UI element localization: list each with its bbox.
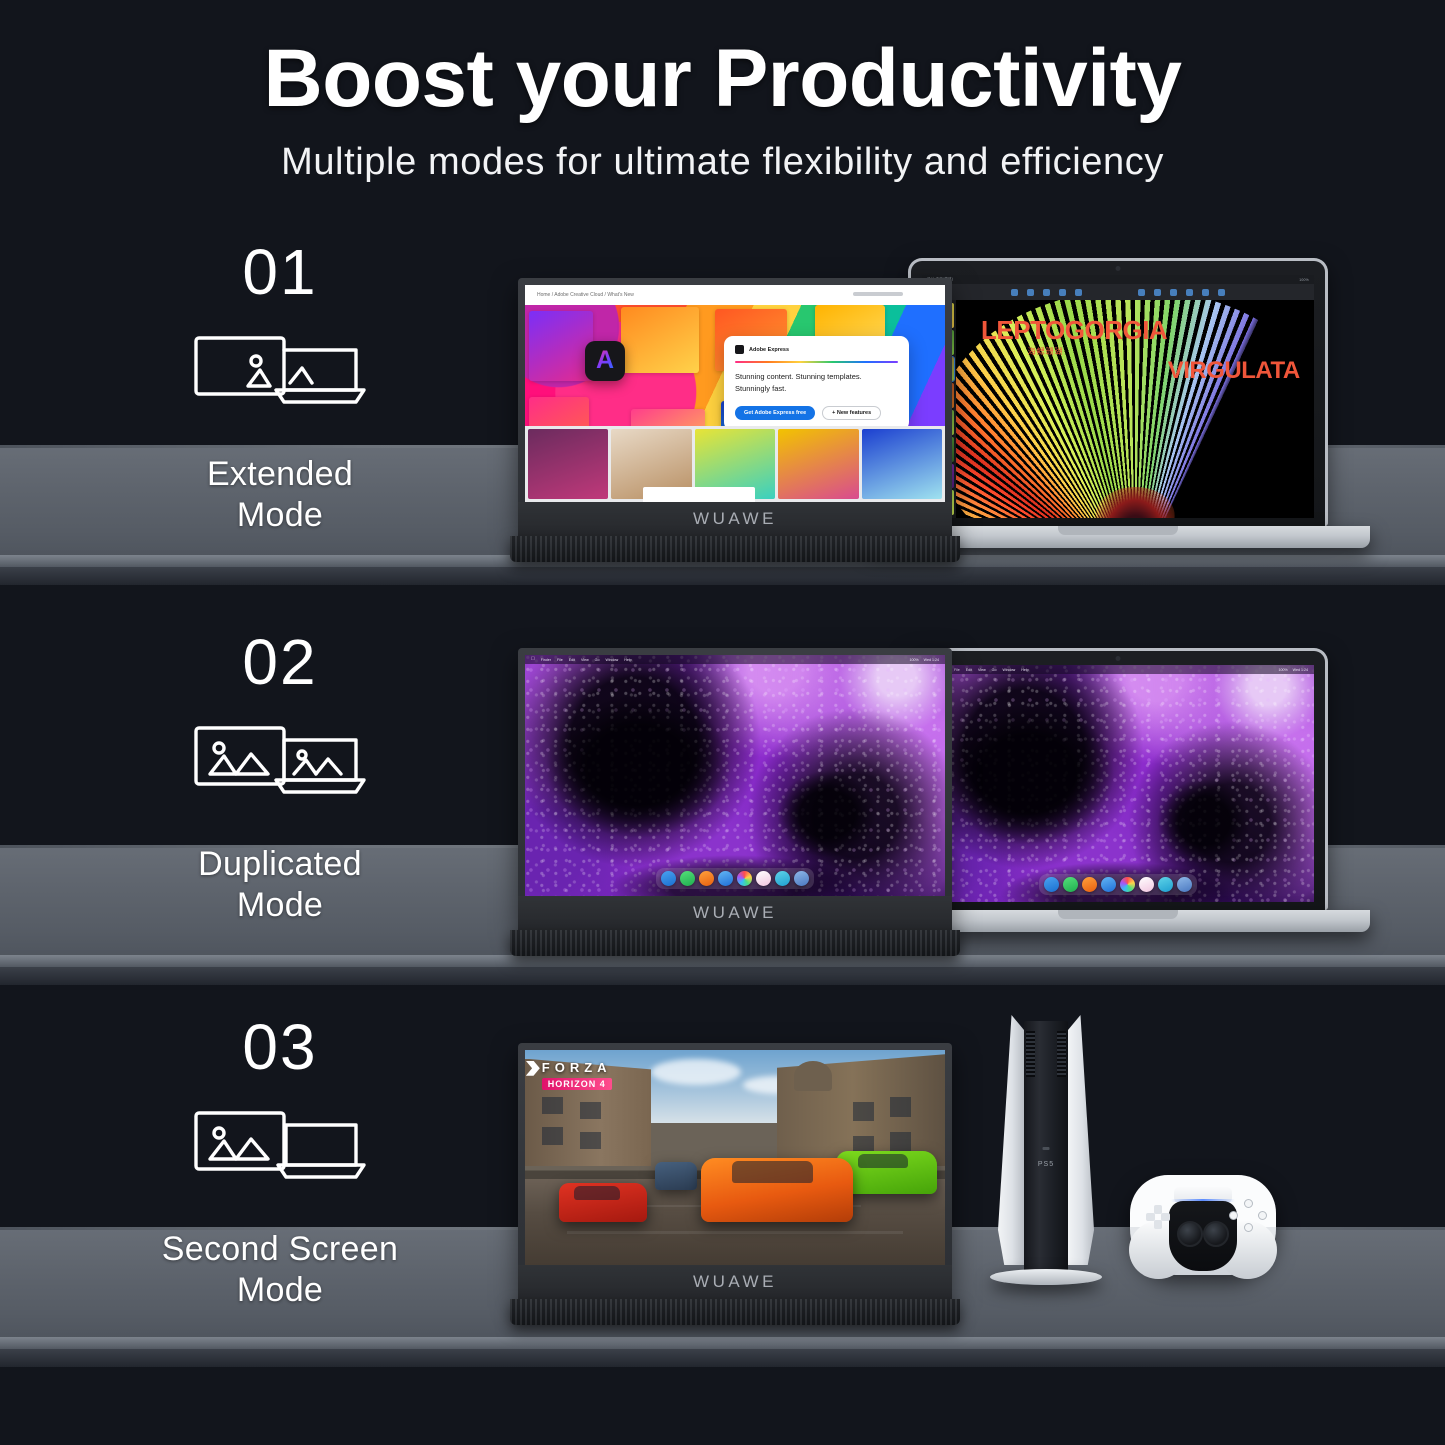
share-icon[interactable] (1138, 289, 1145, 296)
cloud-shape (651, 1059, 741, 1085)
get-adobe-express-free-button[interactable]: Get Adobe Express free (735, 406, 815, 420)
laptop-device-row1: 设计 中文(简体) 100% (908, 258, 1328, 526)
mode-row-extended: 01 Extended Mode 设计 中文( (0, 240, 1445, 600)
laptop-lid: 设计 中文(简体) 100% (908, 258, 1328, 526)
mail-icon[interactable] (699, 871, 714, 886)
text-icon[interactable] (1186, 289, 1193, 296)
window-shape (542, 1127, 563, 1144)
macos-menubar[interactable]:  Finder File Edit View Go Window Help 1… (525, 655, 945, 664)
adobe-express-logo-icon (735, 345, 744, 354)
ps5-fin-left (998, 1015, 1024, 1265)
settings-icon[interactable] (794, 871, 809, 886)
monitor-chin: WUAWE (518, 502, 952, 536)
mode-name-line1: Second Screen (60, 1229, 500, 1270)
shape-icon[interactable] (1202, 289, 1209, 296)
mail-icon[interactable] (1082, 877, 1097, 892)
strip-thumb[interactable] (778, 429, 858, 499)
battery-status[interactable]: 100% (1278, 668, 1287, 672)
portable-monitor-row3: FORZA HORIZON 4 WUAWE (518, 1043, 952, 1299)
ps5-vent-right-icon (1057, 1031, 1066, 1077)
play-icon[interactable] (1011, 289, 1018, 296)
macos-menubar[interactable]:  Finder File Edit View Go Window Help 1… (922, 665, 1314, 674)
facetime-icon[interactable] (680, 871, 695, 886)
page-subtitle: Multiple modes for ultimate flexibility … (0, 120, 1445, 184)
add-slide-icon[interactable] (1059, 289, 1066, 296)
menubar-status-area: 100% Wed 1:24 (909, 658, 939, 662)
monitor-body:  Finder File Edit View Go Window Help 1… (518, 648, 952, 930)
mode-row-second-screen: 03 Second Screen Mode PS5 (0, 1015, 1445, 1375)
mode-name: Second Screen Mode (60, 1229, 500, 1312)
coral-wallpaper-shadows (922, 665, 1314, 902)
clock[interactable]: Wed 1:24 (924, 658, 939, 662)
dualsense-controller (1130, 1175, 1276, 1275)
finder-icon[interactable] (661, 871, 676, 886)
account-pill[interactable] (853, 292, 903, 296)
game-subtitle-badge: HORIZON 4 (542, 1078, 612, 1090)
mode-label-02: 02 Duplicated Mode (60, 630, 500, 927)
promo-card-title: Adobe Express (749, 347, 789, 353)
mode-name: Duplicated Mode (60, 844, 500, 927)
mode-number: 03 (60, 1015, 500, 1079)
template-thumbnail-strip (525, 426, 945, 502)
monitor-laptop-extended-icon (190, 328, 370, 408)
macos-dock[interactable] (1039, 874, 1197, 895)
game-car-blue (655, 1162, 697, 1190)
rainbow-divider (735, 361, 898, 363)
ps5-stand (990, 1269, 1102, 1285)
new-features-button[interactable]: + New features (822, 406, 881, 420)
keynote-statusbar: 设计 中文(简体) 100% (922, 275, 1314, 284)
page-header: Boost your Productivity Multiple modes f… (0, 0, 1445, 210)
keynote-app: 设计 中文(简体) 100% (922, 275, 1314, 518)
building-dome (794, 1061, 832, 1091)
menubar-item-file[interactable]: File (557, 658, 563, 662)
controller-body (1130, 1175, 1276, 1275)
macos-desktop:  Finder File Edit View Go Window Help 1… (922, 665, 1314, 902)
game-car-red (559, 1183, 647, 1222)
mode-name-line1: Duplicated (60, 844, 500, 885)
portable-monitor-row1: Home / Adobe Creative Cloud / What's New (518, 278, 952, 536)
adobe-express-page: Home / Adobe Creative Cloud / What's New (525, 285, 945, 502)
window-shape (890, 1097, 911, 1116)
window-shape (853, 1102, 874, 1121)
macos-desktop-mirrored:  Finder File Edit View Go Window Help 1… (525, 655, 945, 896)
promo-card-body: Stunning content. Stunning templates. St… (735, 371, 898, 394)
ps5-vent-left-icon (1026, 1031, 1035, 1077)
safari-icon[interactable] (1101, 877, 1116, 892)
mode-name-line2: Mode (60, 1270, 500, 1311)
collage-tile (529, 397, 589, 426)
appstore-icon[interactable] (775, 871, 790, 886)
battery-status[interactable]: 100% (909, 658, 918, 662)
cross-button-icon[interactable] (1244, 1223, 1253, 1232)
portable-monitor-row2:  Finder File Edit View Go Window Help 1… (518, 648, 952, 930)
monitor-screen:  Finder File Edit View Go Window Help 1… (525, 655, 945, 896)
promo-body-line2: Stunningly fast. (735, 383, 898, 395)
car-windshield (732, 1161, 814, 1183)
menubar-item-window[interactable]: Window (1002, 668, 1015, 672)
app-icon-letter: A (596, 348, 614, 373)
monitor-stand (510, 930, 960, 956)
laptop-screen: 设计 中文(简体) 100% (922, 275, 1314, 518)
menubar-item-go[interactable]: Go (992, 668, 997, 672)
music-icon[interactable] (1139, 877, 1154, 892)
menubar-item-finder[interactable]: Finder (541, 658, 551, 662)
collage-tile (621, 307, 699, 373)
menubar-item-edit[interactable]: Edit (569, 658, 575, 662)
page-title: Boost your Productivity (0, 0, 1445, 120)
view-icon[interactable] (1027, 289, 1034, 296)
statusbar-right-text: 100% (1299, 278, 1309, 282)
finder-icon[interactable] (1044, 877, 1059, 892)
zoom-icon[interactable] (1043, 289, 1050, 296)
monitor-stand (510, 1299, 960, 1325)
menubar-item-help[interactable]: Help (624, 658, 631, 662)
ps5-console: PS5 (998, 1015, 1094, 1277)
mode-name-line1: Extended (60, 454, 500, 495)
slide-title-line1: LEPTOGORGIA (981, 317, 1167, 343)
forza-horizon-4-game: FORZA HORIZON 4 (525, 1050, 945, 1265)
apple-menu-icon[interactable]:  (531, 657, 535, 662)
promo-card-header: Adobe Express (735, 345, 898, 354)
laptop-camera-icon (1116, 266, 1121, 271)
monitor-brand-label: WUAWE (693, 1272, 777, 1292)
mode-number: 02 (60, 630, 500, 694)
promo-body-line1: Stunning content. Stunning templates. (735, 371, 898, 383)
safari-icon[interactable] (718, 871, 733, 886)
clock[interactable]: Wed 1:24 (1293, 668, 1308, 672)
macos-dock[interactable] (656, 868, 814, 889)
hover-tooltip (643, 487, 755, 502)
keynote-toolbar[interactable] (922, 284, 1314, 300)
promo-card: Adobe Express Stunning content. Stunning… (724, 336, 909, 426)
monitor-screen: FORZA HORIZON 4 (525, 1050, 945, 1265)
appstore-icon[interactable] (1158, 877, 1173, 892)
monitor-stand (510, 536, 960, 562)
mode-label-01: 01 Extended Mode (60, 240, 500, 537)
menubar-item-view[interactable]: View (978, 668, 986, 672)
chart-icon[interactable] (1170, 289, 1177, 296)
square-button-icon[interactable] (1229, 1211, 1238, 1220)
adobe-express-app-icon: A (585, 341, 625, 381)
slide-title-line2: VIRGULATA (1168, 359, 1300, 383)
keynote-slide-canvas: LEPTOGORGIA 海鳃珊瑚 VIRGULATA (956, 300, 1314, 518)
ps5-fin-right (1068, 1015, 1094, 1265)
monitor-laptop-duplicated-icon (190, 718, 370, 798)
playstation-5-setup: PS5 (980, 1015, 1340, 1365)
ps5-usb-port-icon (1043, 1147, 1050, 1150)
triangle-button-icon[interactable] (1244, 1199, 1253, 1208)
photos-icon[interactable] (737, 871, 752, 886)
settings-icon[interactable] (1177, 877, 1192, 892)
window-shape (890, 1132, 911, 1151)
menubar-item-window[interactable]: Window (605, 658, 618, 662)
menubar-item-edit[interactable]: Edit (966, 668, 972, 672)
monitor-laptop-second-screen-icon (190, 1103, 370, 1183)
table-icon[interactable] (1154, 289, 1161, 296)
slide-subtitle-cn: 海鳃珊瑚 (1028, 346, 1064, 357)
mode-number: 01 (60, 240, 500, 304)
game-car-orange (701, 1158, 852, 1223)
strip-thumb[interactable] (528, 429, 608, 499)
car-windshield (858, 1154, 908, 1169)
laptop-device-row2:  Finder File Edit View Go Window Help 1… (908, 648, 1328, 910)
laptop-camera-icon (1116, 656, 1121, 661)
template-collage: A Adobe Express Stunning content. Stunni… (525, 305, 945, 426)
monitor-brand-label: WUAWE (693, 509, 777, 529)
monitor-screen: Home / Adobe Creative Cloud / What's New (525, 285, 945, 502)
product-feature-page: Boost your Productivity Multiple modes f… (0, 0, 1445, 1445)
monitor-body: FORZA HORIZON 4 WUAWE (518, 1043, 952, 1299)
menubar-item-view[interactable]: View (581, 658, 589, 662)
left-analog-stick[interactable] (1177, 1221, 1203, 1247)
road-marking (567, 1231, 903, 1234)
ps5-console-core: PS5 (1024, 1021, 1068, 1277)
photos-icon[interactable] (1120, 877, 1135, 892)
forza-logo: FORZA HORIZON 4 (542, 1061, 612, 1092)
monitor-chin: WUAWE (518, 1265, 952, 1299)
circle-button-icon[interactable] (1258, 1211, 1267, 1220)
collage-tile (631, 409, 705, 426)
dpad-icon[interactable] (1146, 1205, 1170, 1229)
mode-label-03: 03 Second Screen Mode (60, 1015, 500, 1312)
menubar-item-go[interactable]: Go (595, 658, 600, 662)
menubar-item-help[interactable]: Help (1021, 668, 1028, 672)
mode-row-duplicated: 02 Duplicated Mode (0, 630, 1445, 990)
strip-thumb[interactable] (862, 429, 942, 499)
window-shape (580, 1102, 601, 1119)
car-windshield (574, 1186, 620, 1200)
collage-tile (529, 311, 593, 381)
breadcrumb[interactable]: Home / Adobe Creative Cloud / What's New (537, 292, 634, 298)
facetime-icon[interactable] (1063, 877, 1078, 892)
menubar-status-area: 100% Wed 1:24 (1278, 668, 1308, 672)
mode-name: Extended Mode (60, 454, 500, 537)
coral-wallpaper-shadows (525, 655, 945, 896)
ps5-logo: PS5 (1038, 1161, 1054, 1168)
mode-name-line2: Mode (60, 885, 500, 926)
mode-name-line2: Mode (60, 495, 500, 536)
game-title: FORZA (542, 1061, 612, 1074)
monitor-brand-label: WUAWE (693, 903, 777, 923)
promo-card-actions: Get Adobe Express free + New features (735, 406, 898, 420)
window-shape (542, 1097, 563, 1114)
monitor-chin: WUAWE (518, 896, 952, 930)
media-icon[interactable] (1075, 289, 1082, 296)
format-icon[interactable] (1218, 289, 1225, 296)
music-icon[interactable] (756, 871, 771, 886)
menubar-item-file[interactable]: File (954, 668, 960, 672)
window-shape (580, 1132, 601, 1149)
browser-breadcrumb-bar: Home / Adobe Creative Cloud / What's New (525, 285, 945, 305)
laptop-lid:  Finder File Edit View Go Window Help 1… (908, 648, 1328, 910)
laptop-screen:  Finder File Edit View Go Window Help 1… (922, 665, 1314, 902)
monitor-body: Home / Adobe Creative Cloud / What's New (518, 278, 952, 536)
